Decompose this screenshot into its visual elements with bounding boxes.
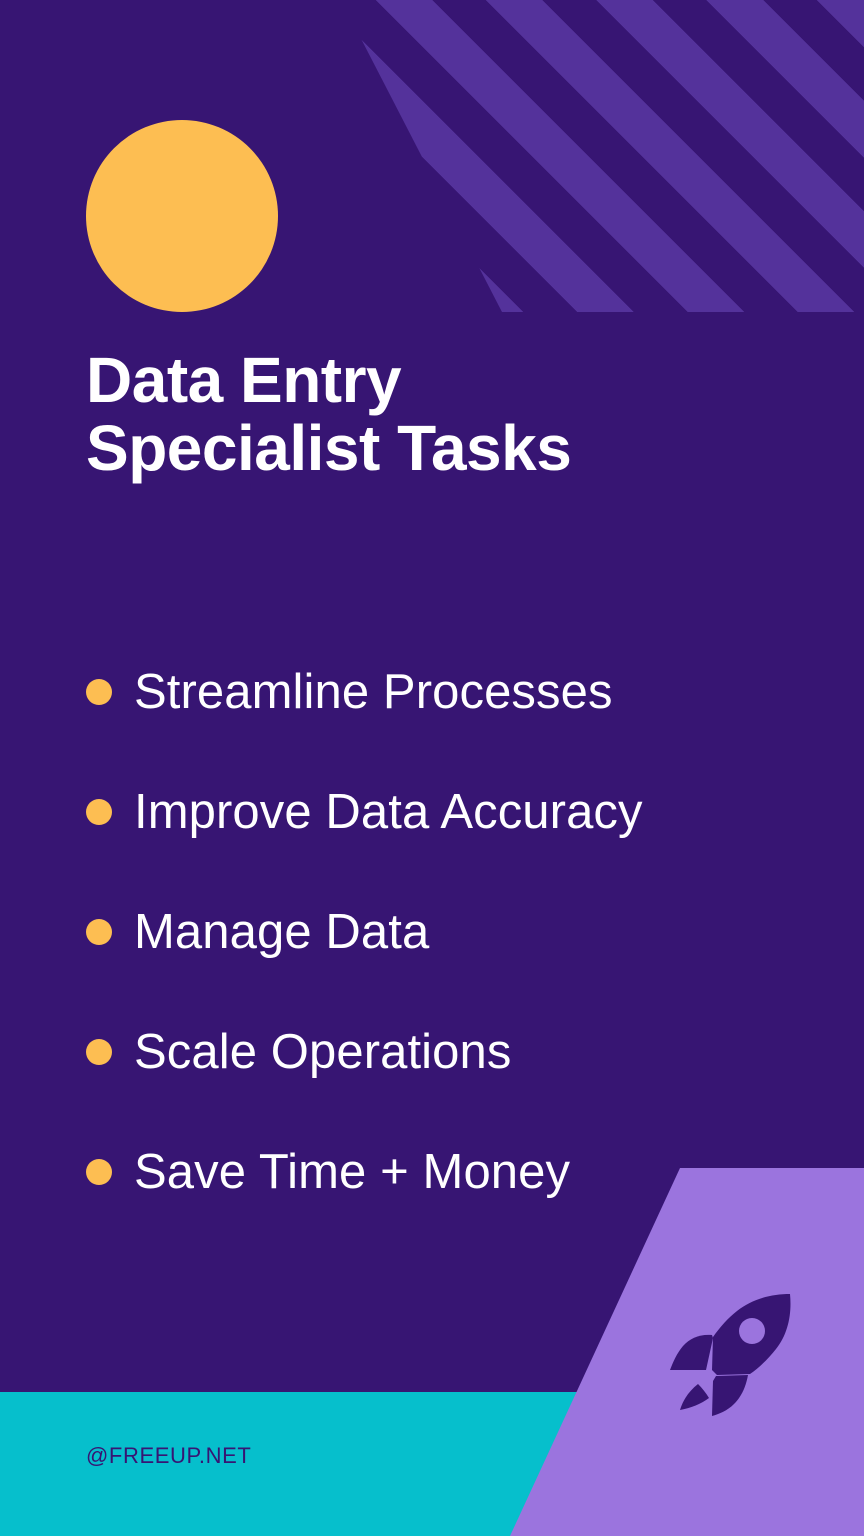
list-item-label: Save Time + Money [134, 1148, 570, 1197]
bullet-dot-icon [86, 679, 112, 705]
list-item-label: Improve Data Accuracy [134, 788, 643, 837]
list-item: Streamline Processes [86, 656, 826, 728]
bullet-dot-icon [86, 799, 112, 825]
bullet-dot-icon [86, 1039, 112, 1065]
rocket-icon [668, 1292, 794, 1416]
list-item: Manage Data [86, 896, 826, 968]
yellow-circle [86, 120, 278, 312]
list-item-label: Manage Data [134, 908, 429, 957]
task-list: Streamline Processes Improve Data Accura… [86, 656, 826, 1208]
footer-handle: @FREEUP.NET [86, 1443, 251, 1469]
bullet-dot-icon [86, 919, 112, 945]
poster-canvas: Data Entry Specialist Tasks Streamline P… [0, 0, 864, 1536]
list-item-label: Streamline Processes [134, 668, 613, 717]
bullet-dot-icon [86, 1159, 112, 1185]
list-item: Scale Operations [86, 1016, 826, 1088]
stripe-fill [320, 0, 864, 312]
page-title: Data Entry Specialist Tasks [86, 346, 786, 483]
list-item-label: Scale Operations [134, 1028, 511, 1077]
list-item: Improve Data Accuracy [86, 776, 826, 848]
diagonal-stripe-pattern [320, 0, 864, 312]
